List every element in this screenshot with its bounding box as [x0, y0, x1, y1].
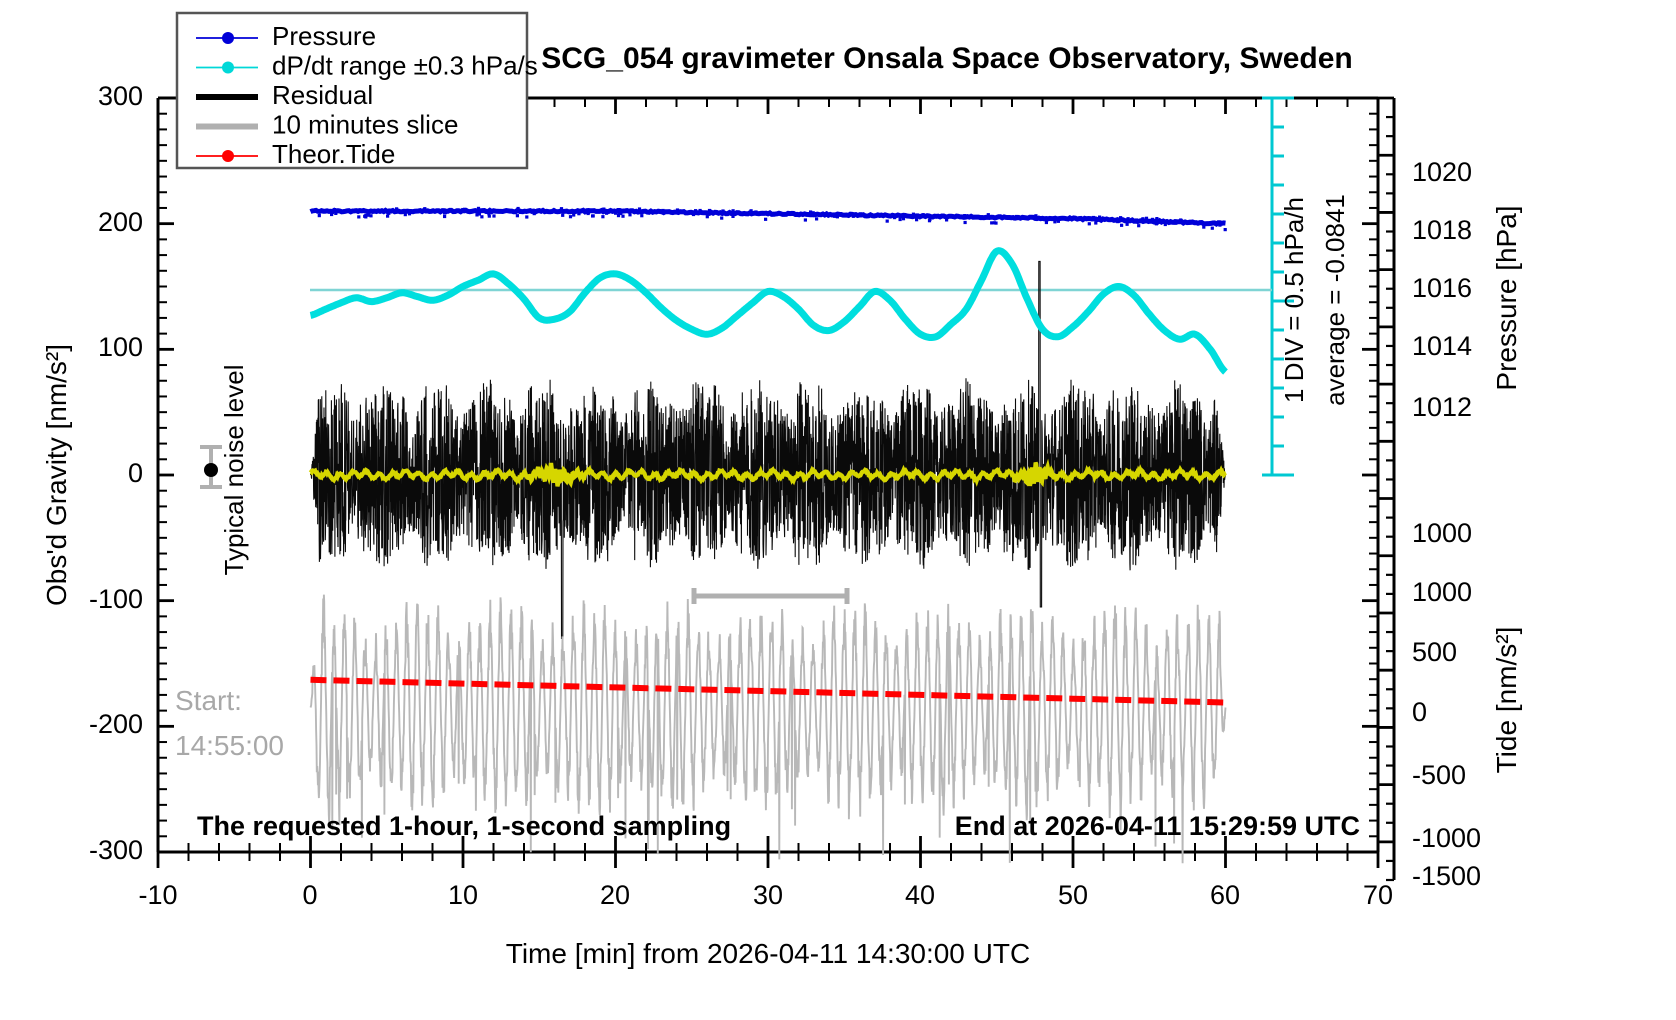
tide-tick-label: ‑1500 — [1412, 861, 1481, 891]
pressure-tick-label: 1012 — [1412, 392, 1472, 422]
plot-title: SCG_054 gravimeter Onsala Space Observat… — [541, 42, 1353, 75]
sampling-note: The requested 1‑hour, 1‑second sampling — [197, 811, 731, 841]
y-tick-label: ‑200 — [89, 709, 143, 739]
gravimeter-chart-figure: ‑10 0 10 20 30 40 50 60 70 300 200 100 0… — [0, 0, 1676, 1020]
x-tick-label: 10 — [448, 880, 478, 910]
x-tick-label: 40 — [905, 880, 935, 910]
pressure-tick-label: 1020 — [1412, 157, 1472, 187]
x-tick-label: 0 — [302, 880, 317, 910]
tide-tick-label: ‑1000 — [1412, 823, 1481, 853]
y-right-pressure-axis-title: Pressure [hPa] — [1491, 205, 1522, 390]
x-tick-label: 20 — [600, 880, 630, 910]
legend-swatch-dot — [222, 150, 234, 162]
y-tick-label: 300 — [98, 81, 143, 111]
x-axis-title: Time [min] from 2026‑04‑11 14:30:00 UTC — [506, 938, 1030, 969]
pressure-tick-label: 1018 — [1412, 215, 1472, 245]
y-right-tide-axis-title: Tide [nm/s²] — [1491, 627, 1522, 774]
legend-item-label: Theor.Tide — [272, 139, 395, 169]
end-note: End at 2026‑04‑11 15:29:59 UTC — [955, 811, 1360, 841]
tide-tick-label: 500 — [1412, 637, 1457, 667]
legend-item-label: Residual — [272, 80, 373, 110]
x-tick-label: 60 — [1210, 880, 1240, 910]
noise-level-annotation: Typical noise level — [219, 365, 249, 576]
x-tick-label: 30 — [753, 880, 783, 910]
y-tick-label: 100 — [98, 332, 143, 362]
tide-tick-label: 0 — [1412, 697, 1427, 727]
legend-item-label: dP/dt range ±0.3 hPa/s — [272, 50, 538, 80]
legend-item-label: Pressure — [272, 21, 376, 51]
div-annotation: 1 DIV = 0.5 hPa/h — [1279, 197, 1309, 403]
x-tick-label: 70 — [1363, 880, 1393, 910]
pressure-tick-label: 1000 — [1412, 518, 1472, 548]
y-left-axis-title: Obs'd Gravity [nm/s²] — [41, 344, 72, 606]
legend-item-label: 10 minutes slice — [272, 109, 458, 139]
tide-tick-label: 1000 — [1412, 577, 1472, 607]
legend: PressuredP/dt range ±0.3 hPa/sResidual10… — [177, 13, 538, 169]
tide-tick-label: ‑500 — [1412, 760, 1466, 790]
y-tick-label: ‑100 — [89, 584, 143, 614]
x-tick-label: ‑10 — [138, 880, 177, 910]
legend-swatch-dot — [222, 62, 234, 74]
pressure-tick-label: 1014 — [1412, 331, 1472, 361]
start-label: Start: — [175, 685, 242, 716]
x-tick-label: 50 — [1058, 880, 1088, 910]
start-time: 14:55:00 — [175, 730, 284, 761]
pressure-tick-label: 1016 — [1412, 273, 1472, 303]
y-tick-label: 200 — [98, 207, 143, 237]
y-tick-label: ‑300 — [89, 835, 143, 865]
y-tick-label: 0 — [128, 458, 143, 488]
legend-swatch-dot — [222, 32, 234, 44]
average-annotation: average = ‑0.0841 — [1320, 194, 1350, 406]
